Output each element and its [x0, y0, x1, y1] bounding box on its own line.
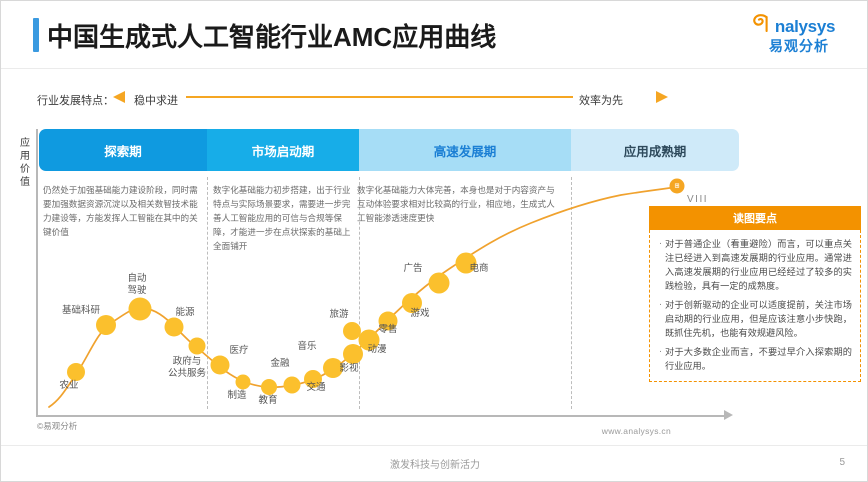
curve-node-label: 音乐	[297, 341, 316, 353]
curve-node-label: 游戏	[410, 308, 429, 320]
key-points-panel: 读图要点 ·对于普通企业（看重避险）而言，可以重点关注已经进入到高速发展期的行业…	[649, 206, 861, 382]
curve-node[interactable]	[236, 375, 251, 390]
stage-separator	[571, 177, 572, 409]
footer-divider	[1, 445, 868, 446]
stage-description-market-launch: 数字化基础能力初步搭建，出于行业特点与实际场景要求，需要进一步完善人工智能应用的…	[213, 183, 355, 253]
logo-chinese-text: 易观分析	[751, 37, 847, 55]
slide-canvas: 中国生成式人工智能行业AMC应用曲线 nalysys 易观分析 行业发展特点： …	[0, 0, 868, 482]
stage-bar-market-launch[interactable]: 市场启动期	[207, 129, 359, 171]
arrow-right-icon	[656, 91, 668, 103]
curve-node[interactable]	[284, 377, 301, 394]
curve-node-label: 制造	[227, 390, 246, 402]
slide-header: 中国生成式人工智能行业AMC应用曲线 nalysys 易观分析	[1, 1, 868, 69]
curve-node-label: 能源	[175, 307, 194, 319]
curve-node-label: 交通	[306, 382, 325, 394]
characteristics-left-text: 稳中求进	[134, 92, 178, 108]
key-points-item-text: 对于大多数企业而言，不要过早介入探索期的行业应用。	[665, 345, 852, 373]
curve-node-label: 医疗	[229, 345, 248, 357]
characteristics-label: 行业发展特点：	[37, 92, 114, 108]
curve-node[interactable]	[67, 363, 85, 381]
bullet-icon: ·	[656, 345, 665, 359]
key-points-item-text: 对于普通企业（看重避险）而言，可以重点关注已经进入到高速发展期的行业应用。通常进…	[665, 237, 852, 293]
curve-node-label: 自动 驾驶	[127, 273, 146, 297]
key-points-list: ·对于普通企业（看重避险）而言，可以重点关注已经进入到高速发展期的行业应用。通常…	[649, 230, 861, 382]
y-axis-line	[36, 129, 38, 417]
curve-node-label: 广告	[403, 263, 422, 275]
curve-node[interactable]	[189, 338, 206, 355]
curve-node[interactable]	[96, 315, 116, 335]
endpoint-roman-numeral: VIII	[687, 194, 708, 205]
key-points-item-text: 对于创新驱动的企业可以适度提前，关注市场启动期的行业应用，但是应该注意小步快跑，…	[665, 298, 852, 340]
industry-characteristics-row: 行业发展特点： 稳中求进 效率为先	[1, 89, 868, 111]
key-points-item: ·对于创新驱动的企业可以适度提前，关注市场启动期的行业应用，但是应该注意小步快跑…	[656, 298, 852, 340]
curve-node[interactable]	[343, 344, 363, 364]
curve-node-label: 教育	[258, 395, 277, 407]
curve-node[interactable]	[129, 298, 152, 321]
key-points-item: ·对于普通企业（看重避险）而言，可以重点关注已经进入到高速发展期的行业应用。通常…	[656, 237, 852, 293]
analysys-swirl-icon	[753, 14, 769, 32]
key-points-title: 读图要点	[649, 206, 861, 230]
title-accent-bar	[33, 18, 39, 52]
curve-node-label: 基础科研	[62, 305, 100, 317]
analysys-logo: nalysys 易观分析	[751, 17, 847, 55]
stage-bar-exploration[interactable]: 探索期	[39, 129, 207, 171]
key-points-item: ·对于大多数企业而言，不要过早介入探索期的行业应用。	[656, 345, 852, 373]
arrow-left-icon	[113, 91, 125, 103]
stage-bar-maturity[interactable]: 应用成熟期	[571, 129, 739, 171]
characteristics-right-text: 效率为先	[579, 92, 623, 108]
page-number: 5	[839, 457, 845, 468]
website-url[interactable]: www.analysys.cn	[602, 426, 671, 436]
y-axis-label: 应用价值	[18, 137, 32, 189]
curve-node[interactable]	[165, 318, 184, 337]
logo-wordmark: nalysys	[751, 17, 847, 37]
stage-bar-rapid-growth[interactable]: 高速发展期	[359, 129, 571, 171]
curve-node[interactable]	[343, 322, 361, 340]
curve-node-label: 旅游	[329, 309, 348, 321]
curve-node-label: 农业	[59, 380, 78, 392]
curve-node-label: 政府与 公共服务	[168, 356, 206, 380]
header-divider	[1, 68, 868, 69]
curve-node-label: 零售	[378, 324, 397, 336]
stage-separator	[207, 177, 208, 409]
bullet-icon: ·	[656, 237, 665, 251]
curve-node-label: 电商	[469, 263, 488, 275]
bullet-icon: ·	[656, 298, 665, 312]
characteristics-connector-line	[186, 96, 573, 98]
stage-description-exploration: 仍然处于加强基础能力建设阶段，同时需要加强数据资源沉淀以及相关数智技术能力建设等…	[43, 183, 201, 239]
x-axis-line	[36, 415, 726, 417]
curve-node[interactable]	[211, 356, 230, 375]
endpoint-marker-icon[interactable]: ⊞	[670, 179, 685, 194]
curve-node[interactable]	[261, 379, 277, 395]
curve-node-label: 金融	[270, 358, 289, 370]
footer-slogan: 激发科技与创新活力	[1, 456, 868, 471]
curve-node-label: 影视	[339, 363, 358, 375]
stage-description-rapid-growth: 数字化基础能力大体完善，本身也是对于内容资产与互动体验要求相对比较高的行业，相应…	[357, 183, 563, 225]
logo-word-text: nalysys	[775, 17, 835, 36]
curve-node[interactable]	[429, 273, 450, 294]
page-title: 中国生成式人工智能行业AMC应用曲线	[47, 17, 496, 54]
curve-node-label: 动漫	[367, 344, 386, 356]
stage-bar-row: 探索期 市场启动期 高速发展期 应用成熟期	[39, 129, 739, 171]
x-axis-arrow-icon	[724, 410, 733, 420]
copyright-note: ©易观分析	[37, 420, 77, 432]
